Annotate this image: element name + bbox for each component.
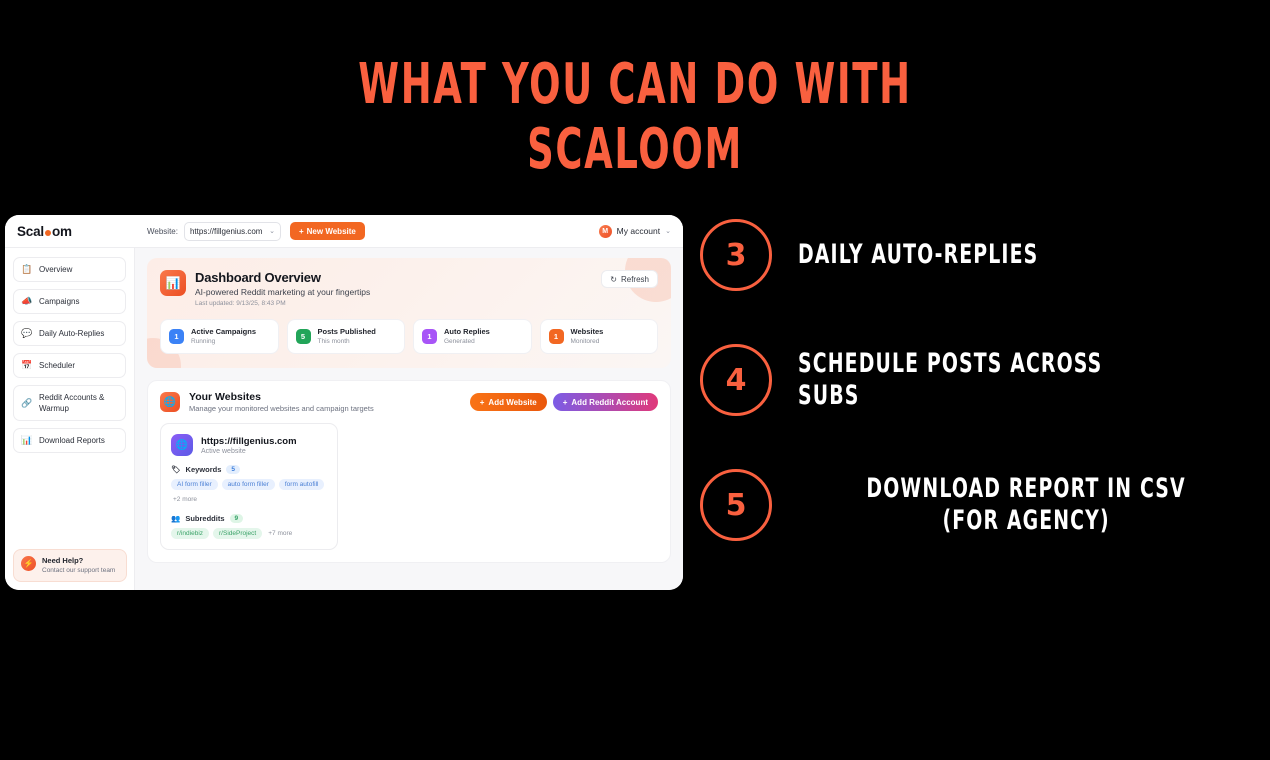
app-topbar: Scal om Website: https://fillgenius.com … [5,215,683,248]
stat-label: Websites [571,327,604,337]
add-reddit-label: Add Reddit Account [571,398,648,407]
refresh-label: Refresh [621,275,649,284]
keywords-group: 🏷 Keywords 5 AI form filler auto form fi… [171,465,327,505]
add-website-label: Add Website [488,398,536,407]
stat-sublabel: Generated [444,337,490,346]
clipboard-icon: 📋 [21,264,32,275]
plus-icon: + [480,398,485,407]
chevron-down-icon: ⌄ [665,227,671,235]
stat-sublabel: Running [191,337,256,346]
your-websites-subtitle: Manage your monitored websites and campa… [189,404,374,413]
account-menu[interactable]: M My account ⌄ [599,225,671,238]
feature-label: Daily auto-replies [798,239,1038,271]
new-website-button[interactable]: + New Website [290,222,365,240]
megaphone-icon: 📣 [21,296,32,307]
need-help-subtitle: Contact our support team [42,567,115,575]
sidebar-item-scheduler[interactable]: 📅 Scheduler [13,353,126,378]
stat-value-badge: 1 [422,329,437,344]
sidebar-item-label: Reddit Accounts & Warmup [39,392,118,414]
your-websites-title: Your Websites [189,391,374,403]
refresh-button[interactable]: ↻ Refresh [601,270,658,288]
stat-sublabel: This month [318,337,376,346]
overview-subtitle: AI-powered Reddit marketing at your fing… [195,287,370,297]
stat-sublabel: Monitored [571,337,604,346]
keywords-label: Keywords [186,465,222,474]
sidebar-item-label: Campaigns [39,296,79,307]
feature-label: Download report in CSV (for agency) [866,473,1185,537]
stat-value-badge: 5 [296,329,311,344]
subreddits-label: Subreddits [185,514,224,523]
logo-text-left: Scal [17,224,44,239]
stat-value-badge: 1 [169,329,184,344]
stat-card-active-campaigns: 1 Active Campaigns Running [160,319,279,354]
stat-label: Auto Replies [444,327,490,337]
people-icon: 👥 [171,514,180,523]
stat-card-auto-replies: 1 Auto Replies Generated [413,319,532,354]
chart-icon: 📊 [160,270,186,296]
chevron-down-icon: ⌄ [269,227,275,235]
sidebar-item-label: Scheduler [39,360,75,371]
feature-number-badge: 5 [700,469,772,541]
refresh-icon: ↻ [610,275,617,284]
globe-icon: 🌐 [160,392,180,412]
sidebar-item-label: Overview [39,264,72,275]
subreddits-count-badge: 9 [230,514,244,523]
need-help-title: Need Help? [42,556,115,566]
sidebar: 📋 Overview 📣 Campaigns 💬 Daily Auto-Repl… [5,248,135,590]
sidebar-item-label: Download Reports [39,435,105,446]
keyword-chip: form autofill [279,479,325,490]
page-title: What you can do with Scaloom [216,52,1054,182]
dashboard-screenshot: Scal om Website: https://fillgenius.com … [5,215,683,590]
logo-dot-icon [45,230,51,236]
stat-card-websites: 1 Websites Monitored [540,319,659,354]
website-url: https://fillgenius.com [201,436,297,447]
globe-icon: 🌐 [171,434,193,456]
sidebar-item-reddit-accounts-warmup[interactable]: 🔗 Reddit Accounts & Warmup [13,385,126,421]
last-updated-text: Last updated: 9/13/25, 8:43 PM [195,300,370,307]
your-websites-card: 🌐 Your Websites Manage your monitored we… [147,380,671,563]
calendar-icon: 📅 [21,360,32,371]
website-selector-value: https://fillgenius.com [190,227,262,236]
stat-value-badge: 1 [549,329,564,344]
lightning-bolt-icon: ⚡ [21,556,36,571]
stat-cards: 1 Active Campaigns Running 5 Posts Publi… [160,319,658,354]
sidebar-item-daily-auto-replies[interactable]: 💬 Daily Auto-Replies [13,321,126,346]
bar-chart-icon: 📊 [21,435,32,446]
stat-label: Posts Published [318,327,376,337]
poster-canvas: What you can do with Scaloom Scal om Web… [0,0,1270,760]
account-label: My account [617,226,660,236]
subreddit-chip: r/indiebiz [171,528,209,539]
feature-number-badge: 3 [700,219,772,291]
plus-icon: + [563,398,568,407]
subreddits-group: 👥 Subreddits 9 r/indiebiz r/SideProject … [171,514,327,539]
overview-title: Dashboard Overview [195,270,370,285]
website-list-item[interactable]: 🌐 https://fillgenius.com Active website … [160,423,338,550]
website-selector-label: Website: [147,227,178,236]
main-content: 📊 Dashboard Overview AI-powered Reddit m… [135,248,683,590]
keyword-chip: AI form filler [171,479,218,490]
feature-item-5: 5 Download report in CSV (for agency) [700,469,1254,541]
need-help-widget[interactable]: ⚡ Need Help? Contact our support team [13,549,127,582]
website-selector[interactable]: https://fillgenius.com ⌄ [184,222,281,241]
chat-bubble-icon: 💬 [21,328,32,339]
sidebar-item-overview[interactable]: 📋 Overview [13,257,126,282]
add-reddit-account-button[interactable]: + Add Reddit Account [553,393,658,411]
sidebar-item-download-reports[interactable]: 📊 Download Reports [13,428,126,453]
feature-label: Schedule posts across subs [798,348,1128,412]
sidebar-item-campaigns[interactable]: 📣 Campaigns [13,289,126,314]
dashboard-overview-card: 📊 Dashboard Overview AI-powered Reddit m… [147,258,671,368]
stat-card-posts-published: 5 Posts Published This month [287,319,406,354]
keywords-more-label: +2 more [171,494,199,505]
logo-text-right: om [52,224,72,239]
plus-icon: + [299,227,304,236]
feature-number-badge: 4 [700,344,772,416]
stat-label: Active Campaigns [191,327,256,337]
feature-item-3: 3 Daily auto-replies [700,219,1141,291]
app-logo: Scal om [5,224,135,239]
keyword-chip: auto form filler [222,479,275,490]
subreddit-chip: r/SideProject [213,528,262,539]
website-status: Active website [201,448,297,455]
new-website-label: New Website [307,227,356,236]
tag-icon: 🏷 [171,465,181,474]
subreddits-more-label: +7 more [266,528,294,539]
keywords-count-badge: 5 [226,465,240,474]
sidebar-item-label: Daily Auto-Replies [39,328,104,339]
feature-item-4: 4 Schedule posts across subs [700,344,1270,416]
add-website-button[interactable]: + Add Website [470,393,547,411]
link-icon: 🔗 [21,398,32,409]
avatar: M [599,225,612,238]
